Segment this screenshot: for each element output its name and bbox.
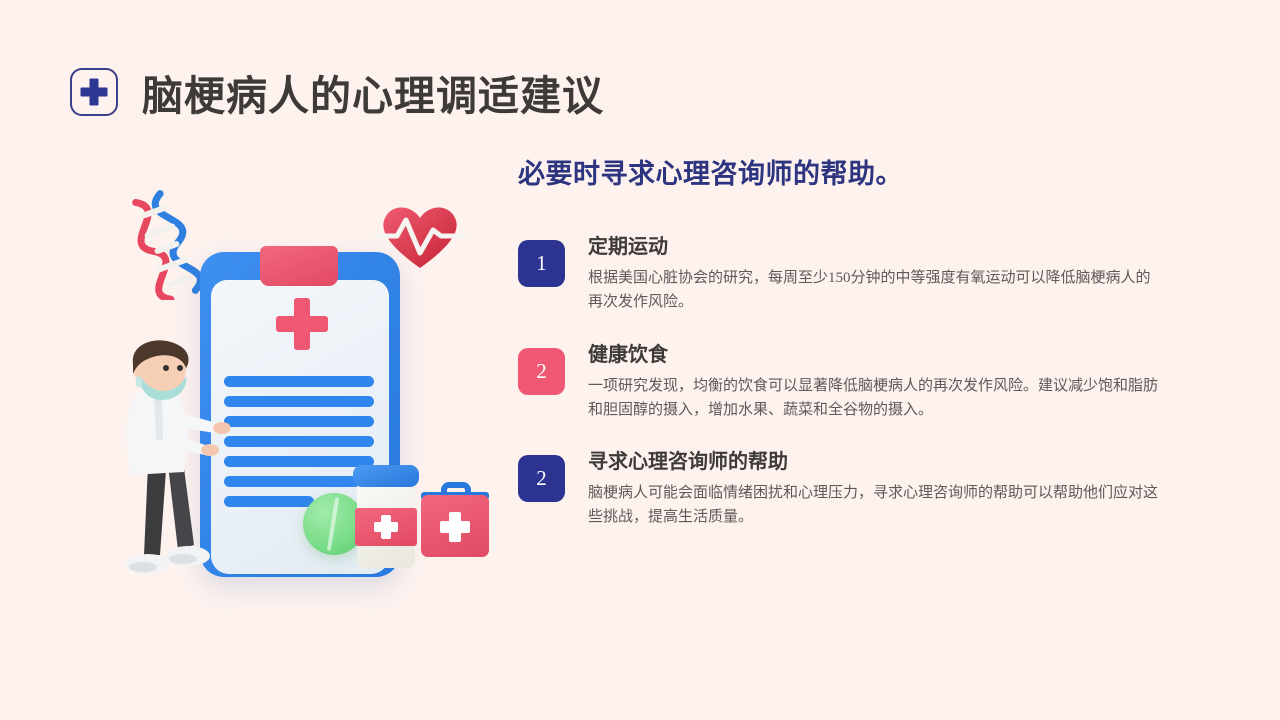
medicine-bottle-cap [353,465,419,487]
item-body: 一项研究发现，均衡的饮食可以显著降低脑梗病人的再次发作风险。建议减少饱和脂肪和胆… [588,374,1163,423]
plus-medical-icon [70,68,118,116]
item-body: 根据美国心脏协会的研究，每周至少150分钟的中等强度有氧运动可以降低脑梗病人的再… [588,266,1163,315]
item-title: 健康饮食 [588,343,1163,368]
clipboard-clip [260,246,338,286]
dna-helix-icon [120,190,210,300]
item-body: 脑梗病人可能会面临情绪困扰和心理压力，寻求心理咨询师的帮助可以帮助他们应对这些挑… [588,481,1163,530]
clipboard-text-line [224,396,374,407]
section-subtitle: 必要时寻求心理咨询师的帮助。 [518,152,1163,191]
clipboard-text-line [224,476,374,487]
content-column: 必要时寻求心理咨询师的帮助。 1 定期运动 根据美国心脏协会的研究，每周至少15… [518,152,1163,530]
plus-horizontal-bar [81,88,108,97]
list-item: 1 定期运动 根据美国心脏协会的研究，每周至少150分钟的中等强度有氧运动可以降… [518,235,1163,315]
medical-illustration [110,190,500,610]
item-text-block: 定期运动 根据美国心脏协会的研究，每周至少150分钟的中等强度有氧运动可以降低脑… [588,235,1163,315]
page-title: 脑梗病人的心理调适建议 [142,62,604,122]
item-number-badge: 2 [518,455,565,502]
clipboard-text-line [224,436,374,447]
item-text-block: 寻求心理咨询师的帮助 脑梗病人可能会面临情绪困扰和心理压力，寻求心理咨询师的帮助… [588,450,1163,530]
doctor-figure-icon [110,340,230,595]
slide-header: 脑梗病人的心理调适建议 [70,62,604,122]
item-number-badge: 1 [518,240,565,287]
clipboard-text-line [224,496,314,507]
bottle-cross-horizontal [374,522,398,532]
item-title: 定期运动 [588,235,1163,260]
item-title: 寻求心理咨询师的帮助 [588,450,1163,475]
item-number-badge: 2 [518,348,565,395]
clipboard-text-line [224,416,374,427]
list-item: 2 寻求心理咨询师的帮助 脑梗病人可能会面临情绪困扰和心理压力，寻求心理咨询师的… [518,450,1163,530]
clipboard-cross-horizontal [276,316,328,332]
list-item: 2 健康饮食 一项研究发现，均衡的饮食可以显著降低脑梗病人的再次发作风险。建议减… [518,343,1163,423]
kit-cross-horizontal [440,521,470,533]
clipboard-text-line [224,376,374,387]
clipboard-text-line [224,456,374,467]
item-text-block: 健康饮食 一项研究发现，均衡的饮食可以显著降低脑梗病人的再次发作风险。建议减少饱… [588,343,1163,423]
